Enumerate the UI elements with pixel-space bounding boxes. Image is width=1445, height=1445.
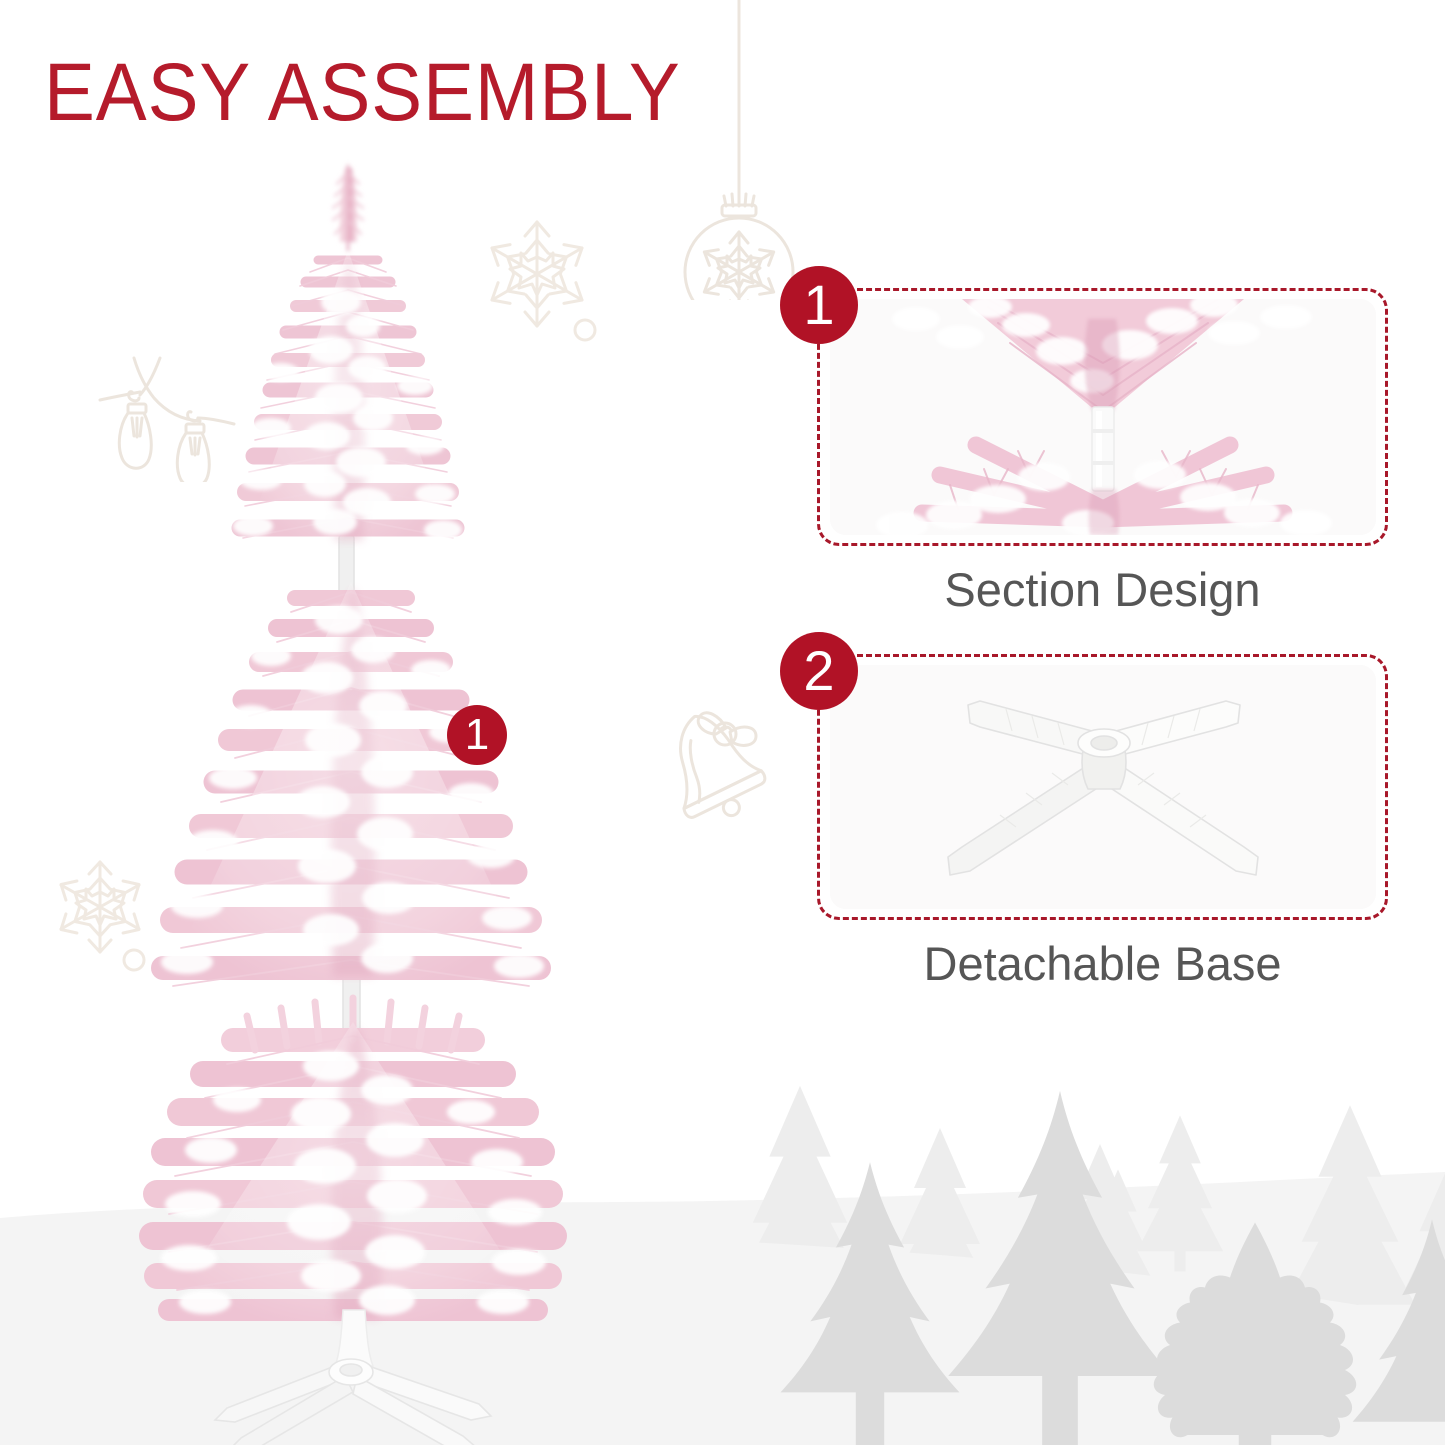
tree-stand [215, 1359, 491, 1445]
callout-2-caption: Detachable Base [817, 940, 1388, 987]
hanging-ornament-snowflake-icon [664, 0, 814, 300]
tree-step-badge-1: 1 [447, 705, 507, 765]
callout-2-badge: 2 [780, 632, 858, 710]
callout-2-photo [830, 665, 1376, 909]
bell-icon [642, 692, 787, 847]
callout-1-caption: Section Design [817, 566, 1388, 613]
page-title: EASY ASSEMBLY [44, 52, 681, 134]
callout-1-photo [830, 299, 1376, 535]
product-infographic: EASY ASSEMBLY [0, 0, 1445, 1445]
tree-photo [95, 150, 655, 1445]
callout-1-badge: 1 [780, 266, 858, 344]
tree-section-bottom [153, 998, 553, 1445]
callout-section-design: 1 Section Design [780, 266, 1420, 646]
tree-section-middle [161, 582, 544, 986]
product-tree-stack: 1 2 [95, 150, 655, 1445]
tree-section-top [233, 166, 462, 542]
callout-detachable-base: 2 Detachable Base [780, 632, 1420, 1022]
